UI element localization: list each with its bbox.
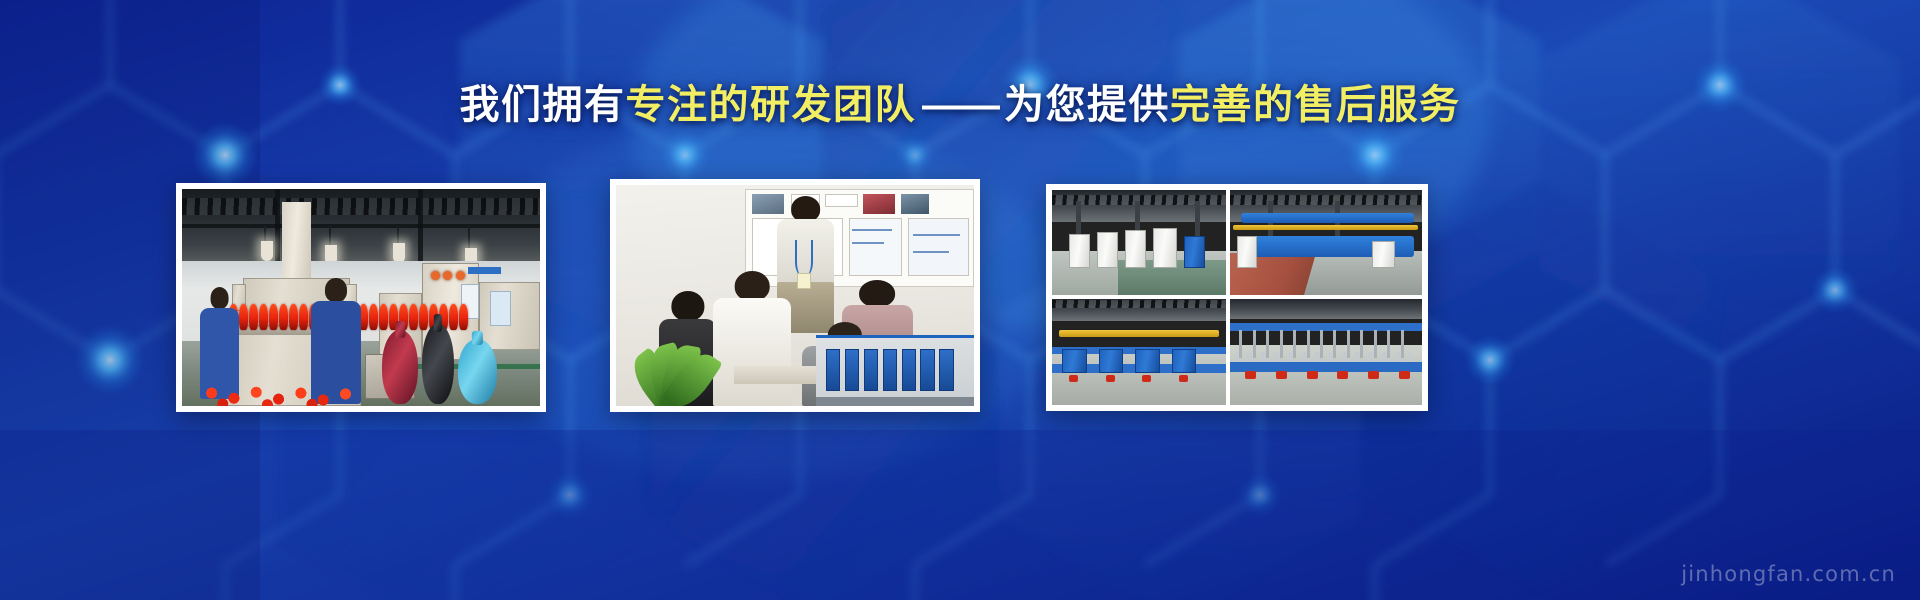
photo-card-equipment-collage[interactable] <box>1046 184 1428 411</box>
bay-truss <box>1052 300 1226 309</box>
hanger-10 <box>1360 330 1363 358</box>
hall-tank-2 <box>1372 241 1395 268</box>
drawing-line-2 <box>852 242 884 244</box>
process-tank-4 <box>1153 228 1177 268</box>
process-tank-1 <box>1069 234 1090 268</box>
drawing-line-4 <box>913 251 949 253</box>
photo-card-production-line[interactable] <box>176 183 546 412</box>
lanyard <box>795 240 813 275</box>
collage-cell-top-right <box>1230 190 1422 295</box>
red-part-2 <box>1106 375 1115 382</box>
person-seated-center <box>713 271 792 406</box>
collage-cell-bottom-left <box>1052 298 1226 406</box>
beam-vertical-b <box>418 189 423 261</box>
blue-overhead-duct <box>1241 213 1414 222</box>
hanger-4 <box>1280 330 1283 358</box>
board-photo-3 <box>901 194 930 214</box>
lamp-rod-2 <box>329 226 331 248</box>
beam-vertical-a <box>275 189 280 261</box>
beam-horizontal <box>182 224 540 228</box>
photo-equipment-collage <box>1052 190 1422 405</box>
hanger-5 <box>1293 330 1296 358</box>
lower-conveyor-rail <box>1230 362 1422 372</box>
process-tank-3 <box>1125 230 1146 268</box>
process-tank-2 <box>1097 232 1118 268</box>
potted-plant <box>620 344 699 406</box>
roof-truss <box>182 198 540 215</box>
hanger-8 <box>1333 330 1336 358</box>
hall-truss <box>1230 195 1422 204</box>
hanger-12 <box>1387 330 1390 358</box>
blue-cabinet <box>1184 236 1205 268</box>
carrier-1 <box>1062 349 1086 373</box>
exhaust-duct <box>282 202 311 284</box>
collage-cell-top-left <box>1052 190 1226 295</box>
vase-black <box>422 324 454 404</box>
hanger-6 <box>1307 330 1310 358</box>
red-part-3 <box>1142 375 1151 382</box>
line-red-part-3 <box>1307 371 1318 379</box>
drawing-line-1 <box>852 229 891 231</box>
hanger-1 <box>1239 330 1242 358</box>
line-roof <box>1230 298 1422 320</box>
line-red-part-5 <box>1368 371 1379 379</box>
line-red-part-4 <box>1337 371 1348 379</box>
hanger-7 <box>1320 330 1323 358</box>
lamp-rod-4 <box>468 226 470 250</box>
photo-production-line <box>182 189 540 406</box>
drawing-line-3 <box>913 234 960 236</box>
brand-strip <box>468 267 500 274</box>
line-red-part-2 <box>1276 371 1287 379</box>
hanger-11 <box>1374 330 1377 358</box>
red-part-4 <box>1179 375 1188 382</box>
hanger-13 <box>1401 330 1404 358</box>
red-part-1 <box>1069 375 1078 382</box>
carrier-2 <box>1099 349 1123 373</box>
hanger-3 <box>1266 330 1269 358</box>
site-watermark: jinhongfan.com.cn <box>1681 562 1896 586</box>
red-spheres-foreground <box>193 363 379 406</box>
board-drawing-1 <box>849 218 903 275</box>
photo-card-team-meeting[interactable] <box>610 179 980 412</box>
ceiling-lamp-1 <box>261 241 273 261</box>
line-red-part-1 <box>1245 371 1256 379</box>
vase-maroon <box>382 330 418 404</box>
carrier-4 <box>1172 349 1196 373</box>
vase-cyan <box>458 339 497 404</box>
promotional-banner: 我们拥有专注的研发团队——为您提供完善的售后服务 <box>0 0 1920 600</box>
carrier-3 <box>1135 349 1159 373</box>
oven-notice <box>490 291 511 326</box>
board-drawing-2 <box>908 218 969 275</box>
hanger-rail <box>1230 323 1422 331</box>
hanger-2 <box>1253 330 1256 358</box>
overhead-crane-beam <box>1059 330 1219 337</box>
hall-tank-1 <box>1237 236 1256 268</box>
badge <box>797 273 811 288</box>
collage-divider-horizontal <box>1052 295 1422 299</box>
hanger-9 <box>1347 330 1350 358</box>
machine-model-display <box>816 335 974 406</box>
yellow-rail <box>1233 225 1418 230</box>
photo-team-meeting <box>616 185 974 406</box>
line-red-part-6 <box>1399 371 1410 379</box>
collage-cell-bottom-right <box>1230 298 1422 406</box>
board-photo-2 <box>863 194 895 214</box>
